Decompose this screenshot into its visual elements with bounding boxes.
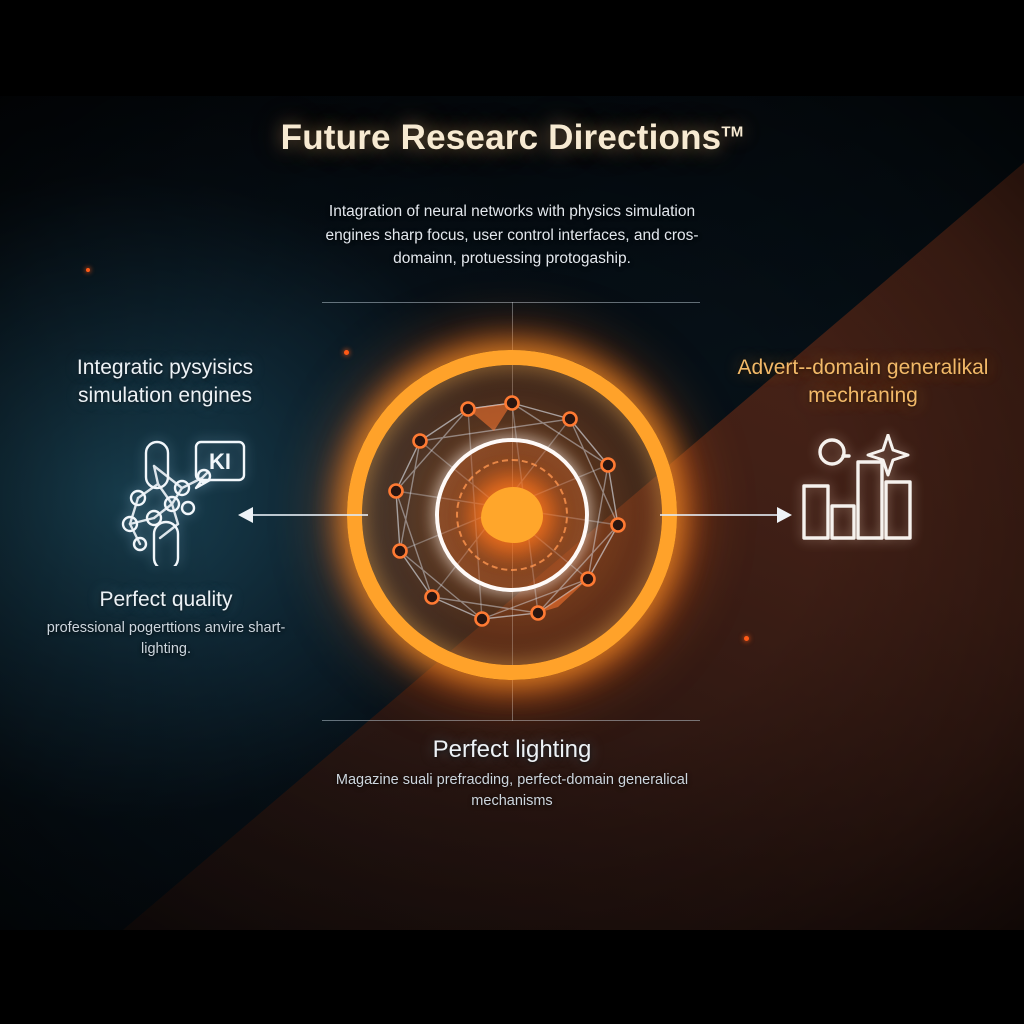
trademark-mark: TM — [721, 123, 743, 140]
arrow-right-icon — [660, 507, 792, 523]
arrow-left-head — [238, 507, 253, 523]
quadrant-right-top-heading: Advert--domain generalikal mechraning — [718, 354, 1008, 411]
arrow-left-icon — [238, 507, 368, 523]
bar-4 — [886, 482, 910, 538]
quadrant-right-top: Advert--domain generalikal mechraning — [718, 354, 1008, 411]
quadrant-left-top: Integratic pysyisics simulation engines — [34, 354, 296, 411]
quadrant-left-bottom-heading: Perfect quality — [30, 586, 302, 614]
neural-network-icon: KI — [110, 426, 260, 571]
letterbox-bottom — [0, 930, 1024, 1024]
magnifier-icon — [820, 440, 844, 464]
quadrant-left-bottom-body: professional pogerttions anvire shart-li… — [30, 618, 302, 660]
bar-1 — [804, 486, 828, 538]
glowing-core-diagram — [312, 315, 712, 715]
letterbox-top — [0, 0, 1024, 96]
arrow-left-shaft — [252, 514, 368, 516]
divider-top — [322, 302, 700, 303]
divider-bottom — [322, 720, 700, 721]
background-speck — [744, 636, 749, 641]
page-title: Future Researc DirectionsTM — [0, 118, 1024, 158]
illustration-canvas: Future Researc DirectionsTM Intagration … — [0, 96, 1024, 930]
arrow-right-shaft — [660, 514, 778, 516]
background-speck — [86, 268, 90, 272]
screenshot-stage: Future Researc DirectionsTM Intagration … — [0, 0, 1024, 1024]
quadrant-left-bottom: Perfect quality professional pogerttions… — [30, 586, 302, 660]
ki-badge-label: KI — [209, 449, 231, 474]
quadrant-bottom-heading: Perfect lighting — [302, 734, 722, 766]
quadrant-bottom: Perfect lighting Magazine suali prefracd… — [302, 734, 722, 812]
bar-chart-icon — [798, 434, 928, 549]
quadrant-bottom-body: Magazine suali prefracding, perfect-doma… — [302, 770, 722, 812]
page-subtitle: Intagration of neural networks with phys… — [312, 200, 712, 271]
quadrant-left-top-heading: Integratic pysyisics simulation engines — [34, 354, 296, 411]
page-title-text: Future Researc Directions — [281, 118, 722, 157]
arrow-right-head — [777, 507, 792, 523]
bar-2 — [832, 506, 854, 538]
sparkle-icon — [868, 435, 908, 475]
core-energy-blob — [481, 487, 543, 543]
bar-3 — [858, 462, 882, 538]
